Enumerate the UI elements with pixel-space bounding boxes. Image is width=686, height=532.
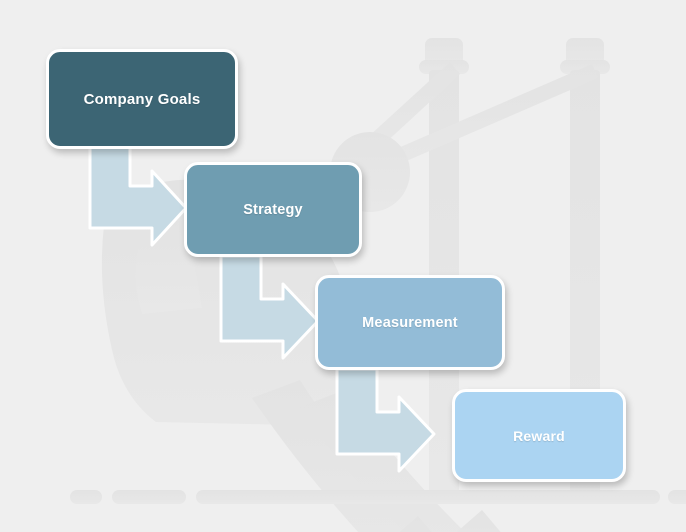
node-measurement-label: Measurement — [362, 315, 458, 331]
connector-measurement-to-reward — [337, 369, 434, 471]
connector-goals-to-strategy — [90, 146, 186, 245]
node-strategy-label: Strategy — [243, 202, 303, 218]
connector-strategy-to-measurement — [221, 256, 318, 358]
node-reward[interactable]: Reward — [452, 389, 626, 482]
node-reward-label: Reward — [513, 428, 565, 444]
node-strategy[interactable]: Strategy — [184, 162, 362, 257]
node-company-goals[interactable]: Company Goals — [46, 49, 238, 149]
node-company-goals-label: Company Goals — [84, 91, 201, 108]
node-measurement[interactable]: Measurement — [315, 275, 505, 370]
diagram-canvas: Company Goals Strategy Measurement Rewar… — [0, 0, 686, 532]
